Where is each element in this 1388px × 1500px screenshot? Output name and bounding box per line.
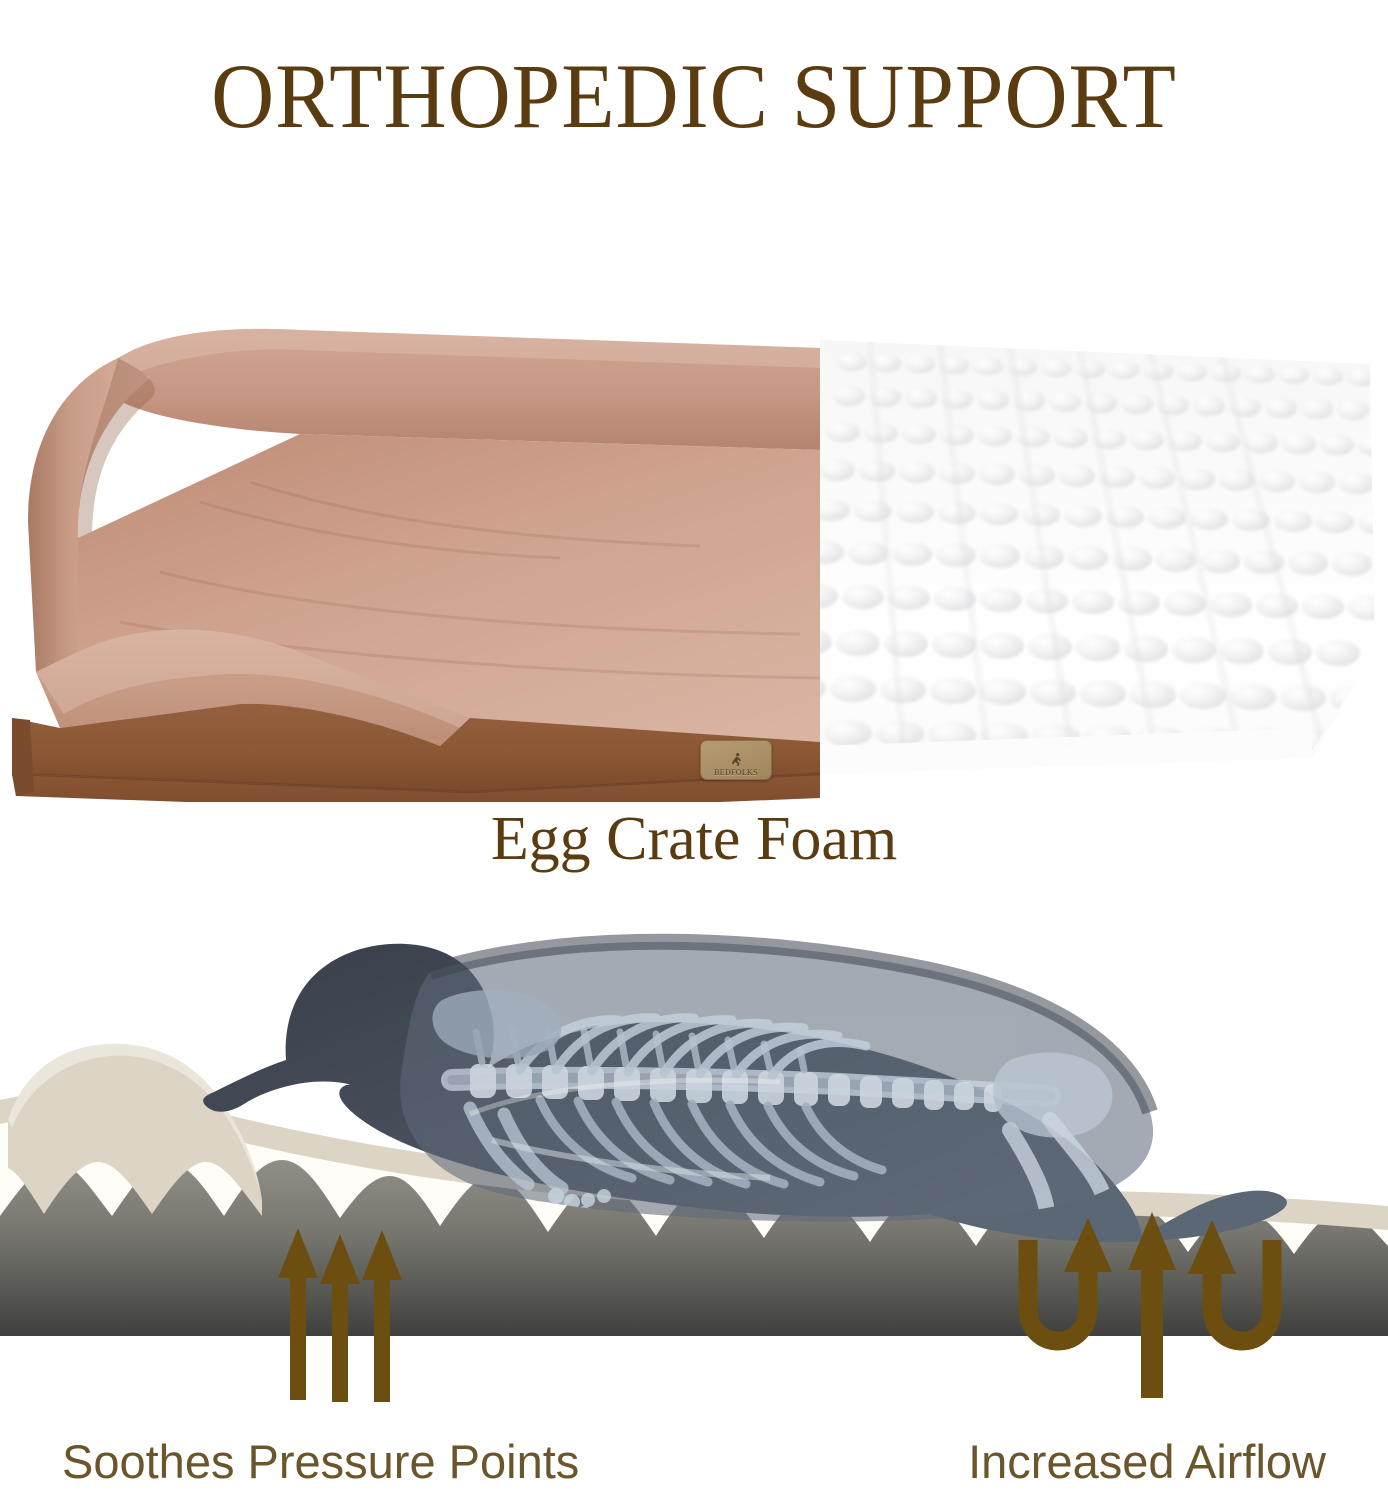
soothes-pressure-points-caption: Soothes Pressure Points bbox=[62, 1438, 579, 1485]
page-title: ORTHOPEDIC SUPPORT bbox=[35, 50, 1354, 142]
infographic-canvas: ORTHOPEDIC SUPPORT bbox=[0, 0, 1388, 1500]
running-figure-icon bbox=[727, 752, 745, 768]
product-hero-image bbox=[0, 322, 1388, 802]
brand-logo-wordmark: BEDFOLKS bbox=[714, 769, 758, 777]
brand-logo-patch: BEDFOLKS bbox=[700, 740, 772, 780]
cross-section-diagram bbox=[0, 900, 1388, 1420]
dog-bed-product bbox=[12, 329, 820, 802]
increased-airflow-caption: Increased Airflow bbox=[968, 1438, 1326, 1485]
egg-crate-foam-slab bbox=[772, 340, 1388, 774]
egg-crate-foam-caption: Egg Crate Foam bbox=[0, 808, 1388, 870]
pressure-point-arrows bbox=[278, 1228, 402, 1402]
